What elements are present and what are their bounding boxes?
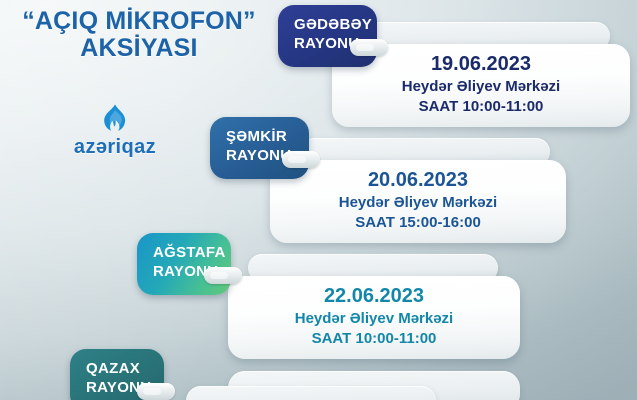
event-card-3[interactable]: 22.06.2023 Heydər Əliyev Mərkəzi SAAT 10… [228, 276, 520, 359]
link-connector-icon [204, 267, 242, 284]
event-card-1[interactable]: 19.06.2023 Heydər Əliyev Mərkəzi SAAT 10… [332, 44, 630, 127]
event-venue: Heydər Əliyev Mərkəzi [238, 309, 510, 329]
event-time: SAAT 10:00-11:00 [342, 97, 620, 117]
page-title: “AÇIQ MİKROFON” AKSİYASI [0, 8, 278, 62]
district-badge-qazax-line1: QAZAX [86, 360, 140, 377]
event-venue: Heydər Əliyev Mərkəzi [342, 77, 620, 97]
event-date: 19.06.2023 [342, 52, 620, 77]
event-card-2[interactable]: 20.06.2023 Heydər Əliyev Mərkəzi SAAT 15… [270, 160, 566, 243]
ghost-card-partial-5 [186, 386, 436, 400]
brand-name: azəriqaz [60, 136, 170, 159]
title-line-1: “AÇIQ MİKROFON” [22, 7, 256, 35]
event-date: 20.06.2023 [280, 168, 556, 193]
azeriqaz-logo: azəriqaz [60, 104, 170, 159]
link-connector-icon [350, 39, 388, 56]
flame-icon [102, 104, 128, 134]
link-connector-icon [282, 151, 320, 168]
event-date: 22.06.2023 [238, 284, 510, 309]
district-badge-agstafa[interactable]: AĞSTAFA RAYONU [137, 233, 231, 295]
district-badge-semkir[interactable]: ŞƏMKİR RAYONU [210, 117, 309, 179]
event-time: SAAT 10:00-11:00 [238, 329, 510, 349]
link-connector-icon [137, 383, 175, 400]
district-badge-gedebey[interactable]: GƏDƏBƏY RAYONU [278, 5, 377, 67]
district-badge-agstafa-line1: AĞSTAFA [153, 244, 226, 261]
event-venue: Heydər Əliyev Mərkəzi [280, 193, 556, 213]
poster-canvas: “AÇIQ MİKROFON” AKSİYASI azəriqaz GƏDƏBƏ… [0, 0, 637, 400]
district-badge-semkir-line1: ŞƏMKİR [226, 128, 287, 145]
district-badge-qazax[interactable]: QAZAX RAYONU [70, 349, 164, 400]
title-line-2: AKSİYASI [0, 35, 278, 62]
district-badge-gedebey-line1: GƏDƏBƏY [294, 16, 372, 33]
event-time: SAAT 15:00-16:00 [280, 213, 556, 233]
